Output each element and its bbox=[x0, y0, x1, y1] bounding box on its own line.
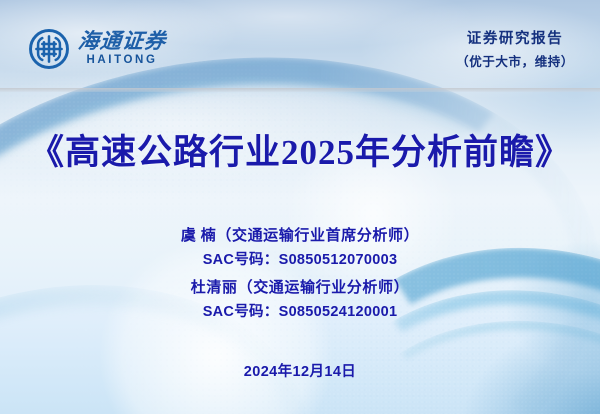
brand-logo[interactable]: 海通证券 HAITONG bbox=[28, 28, 166, 70]
analyst-name-1: 虞 楠（交通运输行业首席分析师） bbox=[0, 225, 600, 249]
report-date: 2024年12月14日 bbox=[0, 360, 600, 381]
report-rating-label: （优于大市，维持） bbox=[456, 53, 574, 71]
header-divider bbox=[0, 88, 600, 92]
analyst-sac-2: SAC号码：S0850524120001 bbox=[0, 301, 600, 324]
brand-name-en: HAITONG bbox=[86, 55, 157, 67]
analyst-sac-1: SAC号码：S0850512070003 bbox=[0, 249, 600, 272]
header-report-info: 证券研究报告 （优于大市，维持） bbox=[456, 30, 574, 71]
analyst-name-2: 杜清丽（交通运输行业分析师） bbox=[0, 277, 600, 301]
analyst-list: 虞 楠（交通运输行业首席分析师） SAC号码：S0850512070003 杜清… bbox=[0, 225, 600, 324]
header: 海通证券 HAITONG 证券研究报告 （优于大市，维持） bbox=[0, 0, 600, 88]
brand-wordmark: 海通证券 HAITONG bbox=[78, 31, 166, 67]
haitong-circular-knot-logo-icon bbox=[28, 28, 70, 70]
report-kind-label: 证券研究报告 bbox=[456, 30, 574, 50]
brand-name-cn: 海通证券 bbox=[77, 31, 167, 52]
report-cover-slide: 海通证券 HAITONG 证券研究报告 （优于大市，维持） 《高速公路行业202… bbox=[0, 0, 600, 414]
page-title: 《高速公路行业2025年分析前瞻》 bbox=[29, 124, 571, 175]
title-area: 《高速公路行业2025年分析前瞻》 bbox=[0, 124, 600, 175]
